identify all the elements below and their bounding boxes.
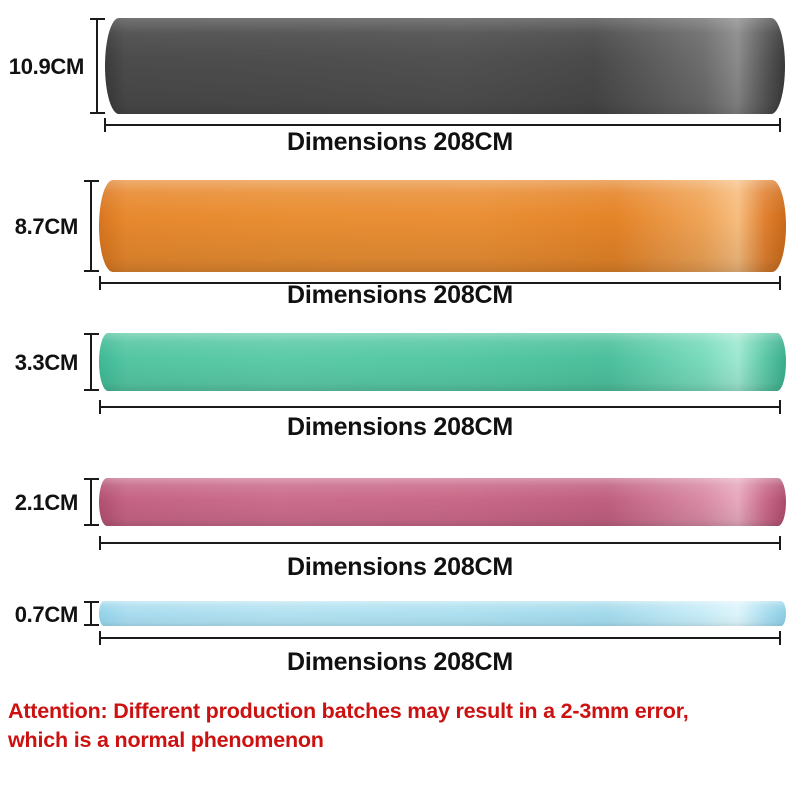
attention-note-line-1: Attention: Different production batches … xyxy=(8,697,798,726)
length-label-dark-gray: Dimensions 208CM xyxy=(0,128,800,157)
band-gloss xyxy=(99,478,786,526)
length-label-green: Dimensions 208CM xyxy=(0,413,800,442)
band-green xyxy=(99,333,786,391)
band-gloss xyxy=(99,601,786,626)
length-label-orange: Dimensions 208CM xyxy=(0,281,800,310)
dimension-line xyxy=(99,637,781,639)
dimension-cap-bottom xyxy=(90,112,105,114)
band-gloss xyxy=(105,18,785,114)
length-dimension-green xyxy=(99,400,781,414)
length-dimension-light-blue xyxy=(99,631,781,645)
dimension-line xyxy=(99,406,781,408)
dimension-line xyxy=(90,601,92,626)
length-label-light-blue: Dimensions 208CM xyxy=(0,648,800,677)
height-label-light-blue: 0.7CM xyxy=(0,602,78,628)
dimension-cap-right xyxy=(779,536,781,550)
dimension-cap-right xyxy=(779,631,781,645)
dimension-line xyxy=(104,124,781,126)
height-label-green: 3.3CM xyxy=(0,350,78,376)
height-dimension-pink xyxy=(83,478,98,526)
dimension-line xyxy=(96,18,98,114)
attention-note: Attention: Different production batches … xyxy=(8,697,798,755)
band-gloss xyxy=(99,333,786,391)
dimension-cap-bottom xyxy=(84,389,99,391)
height-dimension-orange xyxy=(83,180,98,272)
band-gloss xyxy=(99,180,786,272)
band-pink xyxy=(99,478,786,526)
dimension-line xyxy=(90,180,92,272)
attention-note-line-2: which is a normal phenomenon xyxy=(8,726,798,755)
dimension-cap-right xyxy=(779,400,781,414)
height-label-dark-gray: 10.9CM xyxy=(0,54,84,80)
height-dimension-dark-gray xyxy=(89,18,104,114)
height-label-pink: 2.1CM xyxy=(0,490,78,516)
band-dimension-diagram: 10.9CM Dimensions 208CM 8.7CM Dimensions… xyxy=(0,0,800,800)
dimension-cap-bottom xyxy=(84,524,99,526)
dimension-cap-bottom xyxy=(84,624,99,626)
dimension-line xyxy=(99,542,781,544)
length-label-pink: Dimensions 208CM xyxy=(0,553,800,582)
length-dimension-pink xyxy=(99,536,781,550)
dimension-cap-bottom xyxy=(84,270,99,272)
dimension-line xyxy=(90,478,92,526)
band-dark-gray xyxy=(105,18,785,114)
band-light-blue xyxy=(99,601,786,626)
height-dimension-green xyxy=(83,333,98,391)
height-dimension-light-blue xyxy=(83,601,98,626)
band-orange xyxy=(99,180,786,272)
height-label-orange: 8.7CM xyxy=(0,214,78,240)
dimension-line xyxy=(90,333,92,391)
